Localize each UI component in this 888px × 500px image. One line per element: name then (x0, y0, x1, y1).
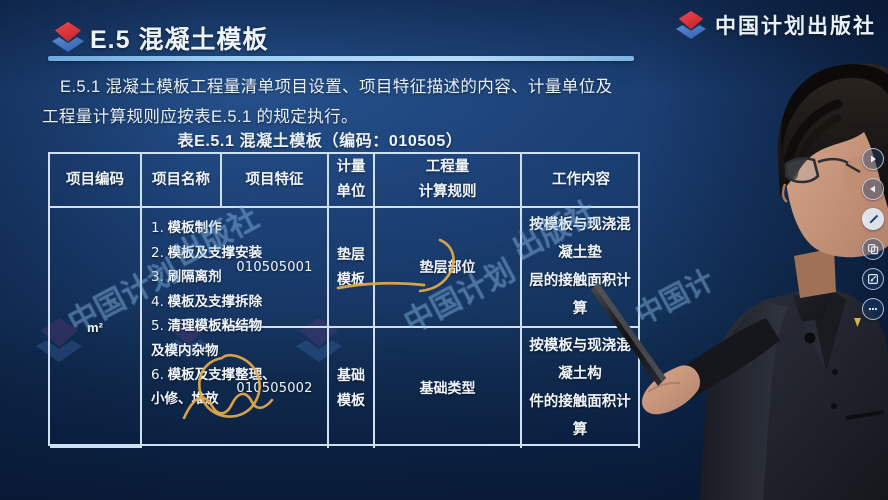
watermark-text: 中国计 (628, 259, 721, 334)
list-item-label: 刷隔离剂 (168, 269, 222, 284)
more-button[interactable] (862, 298, 884, 320)
copy-button[interactable] (862, 238, 884, 260)
list-item-label: 模板制作 (168, 220, 222, 235)
table-cell-rule-line2: 件的接触面积计算 (526, 388, 634, 444)
screenshot-icon (867, 273, 879, 285)
table-cell-rule-line1: 按模板与现浇混凝土构 (526, 332, 634, 388)
list-item-number: 2. (151, 245, 164, 261)
list-item: 2. 模板及支撑安装 (151, 241, 276, 266)
list-item-label: 小修、堆放 (151, 391, 219, 406)
list-item-number: 4. (151, 294, 164, 310)
title-underline (48, 56, 634, 61)
page-title: E.5 混凝土模板 (90, 20, 268, 56)
table-cell-feature: 垫层部位 (375, 208, 522, 328)
list-item-label: 模板及支撑安装 (168, 245, 263, 260)
play-icon (868, 154, 878, 164)
table-cell-rule-line1: 按模板与现浇混凝土垫 (526, 211, 634, 267)
list-item-number: 3. (151, 269, 164, 285)
pen-button[interactable] (862, 208, 884, 230)
play-button[interactable] (862, 148, 884, 170)
lecture-video-frame: E.5 混凝土模板 中国计划出版社 E.5.1 混凝土模板工程量清单项目设置、项… (0, 0, 888, 500)
body-paragraph: E.5.1 混凝土模板工程量清单项目设置、项目特征描述的内容、计量单位及 工程量… (60, 72, 660, 132)
book-diamond-icon (676, 11, 706, 39)
table-cell-code: 010505002 (222, 328, 329, 448)
screenshot-button[interactable] (862, 268, 884, 290)
table-cell-name: 垫层模板 (329, 208, 375, 328)
triangle-left-icon (868, 184, 878, 194)
table-cell-work-content: 1. 模板制作 2. 模板及支撑安装 3. 刷隔离剂 4. 模板及支撑拆除 5.… (142, 208, 222, 448)
slide-header: E.5 混凝土模板 中国计划出版社 (0, 0, 888, 64)
table-header-rule-line1: 工程量 (419, 155, 477, 180)
table-cell-name: 基础模板 (329, 328, 375, 448)
table-header-unit-line1: 计量 (337, 155, 366, 180)
list-item: 3. 刷隔离剂 (151, 265, 276, 290)
publisher-name: 中国计划出版社 (715, 10, 876, 40)
specification-table: 项目编码 项目名称 项目特征 计量 单位 工程量 计算规则 工作内容 01050… (48, 152, 640, 446)
table-cell-feature: 基础类型 (375, 328, 522, 448)
table-header-unit-line2: 单位 (337, 180, 366, 205)
table-cell-rule-line2: 层的接触面积计算 (526, 267, 634, 323)
list-item-number: 6. (151, 367, 164, 383)
list-item-number: 1. (151, 220, 164, 236)
table-header-rule-line2: 计算规则 (419, 180, 477, 205)
table-header-work-content: 工作内容 (522, 154, 640, 208)
book-diamond-icon (52, 22, 84, 52)
list-item-number: 5. (151, 318, 164, 334)
table-caption: 表E.5.1 混凝土模板（编码：010505） (0, 127, 640, 151)
copy-icon (867, 243, 879, 255)
table-header-rule: 工程量 计算规则 (375, 154, 522, 208)
table-cell-rule: 按模板与现浇混凝土构 件的接触面积计算 (522, 328, 640, 448)
table-header-item-feature: 项目特征 (222, 154, 329, 208)
pen-icon (867, 213, 880, 226)
list-item: 1. 模板制作 (151, 216, 276, 241)
previous-button[interactable] (862, 178, 884, 200)
table-header-item-code: 项目编码 (50, 154, 142, 208)
ellipsis-icon (867, 303, 879, 315)
video-control-toolbar[interactable] (862, 148, 884, 320)
table-cell-unit: m² (50, 208, 142, 448)
list-item-label: 及模内杂物 (151, 343, 219, 358)
list-item-label: 模板及支撑拆除 (168, 294, 263, 309)
list-item: 4. 模板及支撑拆除 (151, 290, 276, 315)
table-header-item-name: 项目名称 (142, 154, 222, 208)
publisher-logo: 中国计划出版社 (676, 10, 876, 40)
table-cell-rule: 按模板与现浇混凝土垫 层的接触面积计算 (522, 208, 640, 328)
table-header-unit: 计量 单位 (329, 154, 375, 208)
paragraph-line-1: E.5.1 混凝土模板工程量清单项目设置、项目特征描述的内容、计量单位及 (60, 72, 660, 102)
